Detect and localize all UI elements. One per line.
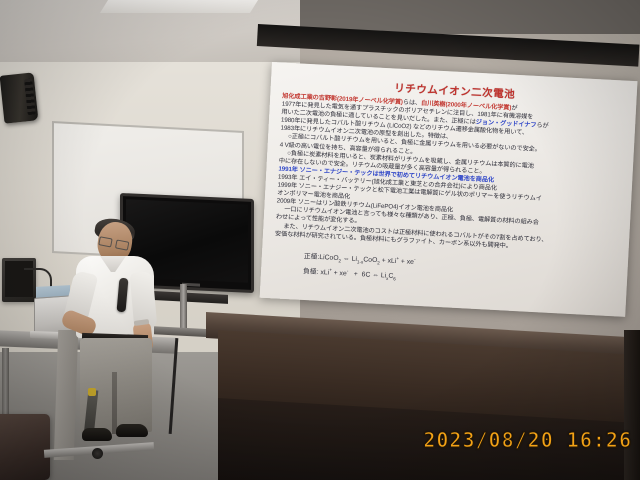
bag-clip xyxy=(88,388,96,396)
presenter-right-shoe xyxy=(116,424,148,437)
tv-stand-pole xyxy=(180,284,187,332)
slide-body: 旭化成工業の吉野彰(2019年ノーベル化学賞)らは、白川英樹(2000年ノーベル… xyxy=(275,93,626,256)
photo-canvas: リチウムイオン二次電池 旭化成工業の吉野彰(2019年ノーベル化学賞)らは、白川… xyxy=(0,0,640,480)
projection-screen: リチウムイオン二次電池 旭化成工業の吉野彰(2019年ノーベル化学賞)らは、白川… xyxy=(260,62,638,317)
right-post xyxy=(624,330,640,480)
ceiling-speaker-icon xyxy=(0,72,38,123)
suitcase xyxy=(0,414,50,480)
slide-equations: 正極:LiCoO2 ⇔ Li1-xCoO2 + xLi+ + xe- 負極: x… xyxy=(273,247,618,296)
camera-timestamp: 2023/08/20 16:26 xyxy=(423,428,632,452)
trouser-gap xyxy=(112,372,117,434)
cart-caster xyxy=(92,448,103,459)
wooden-lectern xyxy=(206,312,640,480)
slide-content: リチウムイオン二次電池 旭化成工業の吉野彰(2019年ノーベル化学賞)らは、白川… xyxy=(260,62,638,317)
ceiling-light-fixture xyxy=(100,0,258,13)
presenter xyxy=(64,222,172,458)
presenter-left-shoe xyxy=(82,428,112,441)
ceiling xyxy=(0,0,300,62)
